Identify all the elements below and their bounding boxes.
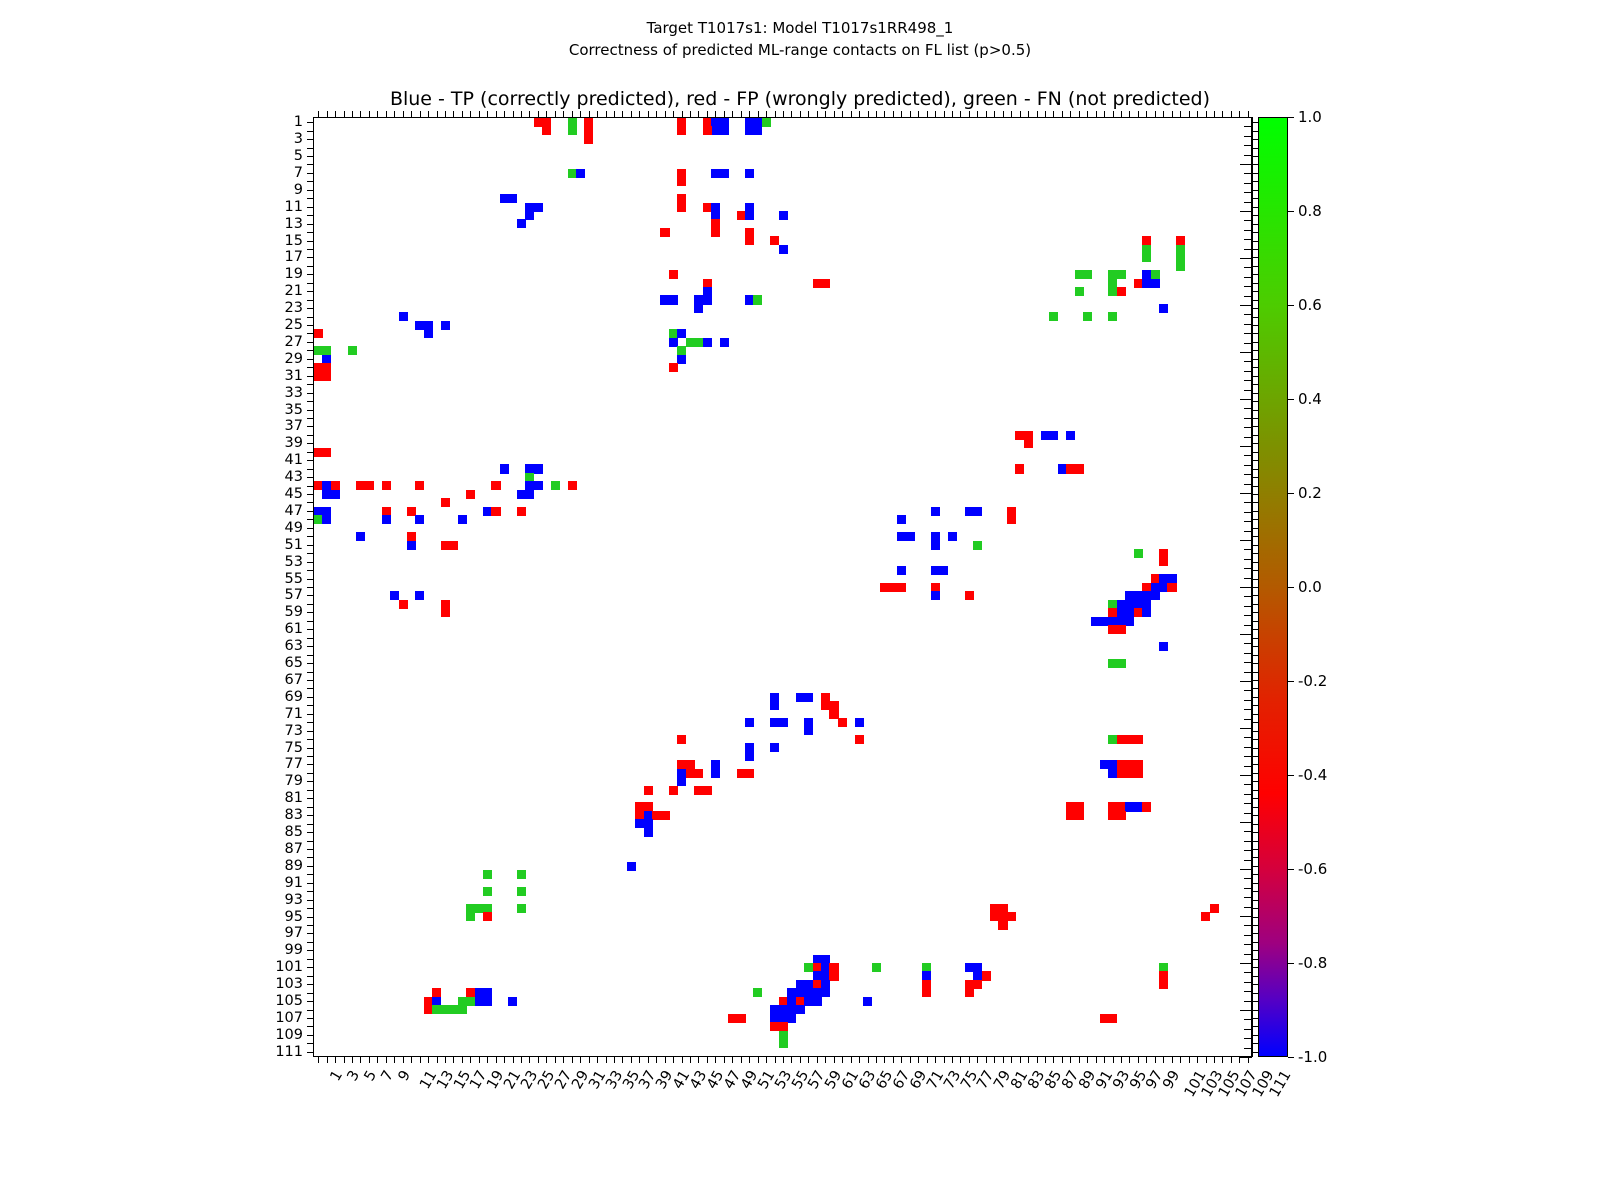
contact-cell <box>627 862 636 871</box>
x-axis-tick-top <box>1121 111 1122 118</box>
contact-cell <box>965 591 974 600</box>
x-axis-tick-top <box>758 111 759 118</box>
y-axis-tick <box>307 1018 314 1019</box>
contact-cell <box>1176 262 1185 271</box>
contact-cell <box>1075 464 1084 473</box>
y-axis-tick <box>307 367 314 368</box>
x-axis-tick <box>944 1056 945 1063</box>
x-axis-tick-top <box>851 111 852 118</box>
y-axis-tick <box>307 181 314 182</box>
colorbar-minor-tick <box>1244 803 1252 804</box>
contact-cell <box>314 329 323 338</box>
x-axis-tick-top <box>952 111 953 118</box>
x-axis-tick <box>420 1056 421 1063</box>
colorbar-minor-tick <box>1240 634 1252 635</box>
contact-cell <box>711 769 720 778</box>
contact-cell <box>779 245 788 254</box>
contact-cell <box>770 701 779 710</box>
y-axis-tick <box>307 629 314 630</box>
y-axis-label: 9 <box>294 182 303 198</box>
contact-cell <box>1142 802 1151 811</box>
contact-cell <box>483 870 492 879</box>
x-axis-tick-top <box>1113 111 1114 118</box>
y-axis-tick <box>307 283 314 284</box>
colorbar-minor-tick <box>1240 399 1252 400</box>
x-axis-tick <box>825 1056 826 1063</box>
x-axis-label: 9 <box>395 1068 413 1084</box>
contact-cell <box>669 295 678 304</box>
contact-cell <box>745 169 754 178</box>
y-axis-label: 27 <box>285 334 303 350</box>
y-axis-label: 29 <box>285 351 303 367</box>
colorbar-minor-tick <box>1244 897 1252 898</box>
contact-cell <box>517 219 526 228</box>
x-axis-tick <box>631 1056 632 1063</box>
y-axis-label: 5 <box>294 148 303 164</box>
y-axis-tick <box>307 224 314 225</box>
y-axis-tick <box>307 900 314 901</box>
x-axis-tick <box>842 1056 843 1063</box>
contact-cell <box>703 338 712 347</box>
colorbar-minor-tick <box>1240 211 1252 212</box>
x-axis-tick-top <box>453 111 454 118</box>
contact-cell <box>1075 811 1084 820</box>
x-axis-tick-top <box>817 111 818 118</box>
x-axis-tick <box>817 1056 818 1063</box>
x-axis-tick-top <box>369 111 370 118</box>
x-axis-tick <box>462 1056 463 1063</box>
colorbar-minor-tick <box>1244 1048 1252 1049</box>
y-axis-tick <box>307 528 314 529</box>
y-axis-label: 99 <box>285 942 303 958</box>
y-axis-tick <box>307 190 314 191</box>
contact-cell <box>1151 279 1160 288</box>
contact-cell <box>525 211 534 220</box>
colorbar-minor-tick <box>1244 202 1252 203</box>
contact-cell <box>737 1014 746 1023</box>
contact-cell <box>677 203 686 212</box>
contact-cell <box>1049 312 1058 321</box>
contact-cell <box>677 177 686 186</box>
y-axis-tick <box>307 908 314 909</box>
colorbar-tick <box>1288 211 1294 212</box>
colorbar-minor-tick <box>1244 324 1252 325</box>
contact-cell <box>1049 431 1058 440</box>
colorbar-minor-tick <box>1244 249 1252 250</box>
x-axis-tick <box>1138 1056 1139 1063</box>
x-axis-tick-top <box>352 111 353 118</box>
x-axis-tick <box>437 1056 438 1063</box>
x-axis-tick-top <box>927 111 928 118</box>
contact-cell <box>458 1005 467 1014</box>
x-axis-tick <box>1096 1056 1097 1063</box>
contact-cell <box>855 718 864 727</box>
x-axis-tick-top <box>360 111 361 118</box>
figure-title-line1: Target T1017s1: Model T1017s1RR498_1 <box>0 18 1600 40</box>
x-axis-tick-top <box>327 111 328 118</box>
x-axis-tick <box>952 1056 953 1063</box>
x-axis-tick <box>783 1056 784 1063</box>
y-axis-label: 33 <box>285 385 303 401</box>
colorbar-tick <box>1288 493 1294 494</box>
contact-cell <box>356 532 365 541</box>
x-axis-tick-top <box>1155 111 1156 118</box>
x-axis-tick <box>1070 1056 1071 1063</box>
x-axis-tick-top <box>1028 111 1029 118</box>
x-axis-tick <box>859 1056 860 1063</box>
colorbar-minor-tick <box>1244 267 1252 268</box>
x-axis-tick-top <box>521 111 522 118</box>
colorbar-tick-label: 0.2 <box>1298 484 1322 502</box>
x-axis-tick <box>749 1056 750 1063</box>
x-axis-tick <box>901 1056 902 1063</box>
y-axis-label: 101 <box>275 959 303 975</box>
contact-cell <box>1117 625 1126 634</box>
x-axis-tick <box>470 1056 471 1063</box>
x-axis-tick-top <box>487 111 488 118</box>
y-axis-tick <box>307 401 314 402</box>
x-axis-tick-top <box>394 111 395 118</box>
x-axis-tick-top <box>589 111 590 118</box>
x-axis-tick <box>1222 1056 1223 1063</box>
colorbar-minor-tick <box>1244 371 1252 372</box>
colorbar-minor-tick <box>1244 643 1252 644</box>
contact-map-figure: Target T1017s1: Model T1017s1RR498_1 Cor… <box>0 0 1600 1200</box>
x-axis-tick <box>1104 1056 1105 1063</box>
x-axis-tick-top <box>437 111 438 118</box>
x-axis-tick <box>910 1056 911 1063</box>
colorbar-minor-tick <box>1244 502 1252 503</box>
contact-cell <box>1167 583 1176 592</box>
x-axis-tick-top <box>597 111 598 118</box>
contact-cell <box>897 566 906 575</box>
colorbar-minor-tick <box>1244 549 1252 550</box>
colorbar-minor-tick <box>1244 521 1252 522</box>
x-axis-tick-top <box>732 111 733 118</box>
x-axis-tick <box>496 1056 497 1063</box>
contact-cell <box>779 211 788 220</box>
colorbar-minor-tick <box>1240 1010 1252 1011</box>
contact-cell <box>973 980 982 989</box>
contact-cell <box>1024 439 1033 448</box>
contact-cell <box>821 988 830 997</box>
x-axis-label: 3 <box>345 1068 363 1084</box>
x-axis-tick <box>580 1056 581 1063</box>
contact-cell <box>939 566 948 575</box>
contact-cell <box>1210 904 1219 913</box>
contact-cell <box>855 735 864 744</box>
contact-cell <box>711 228 720 237</box>
contact-cell <box>441 321 450 330</box>
y-axis-label: 47 <box>285 503 303 519</box>
y-axis-tick <box>307 308 314 309</box>
contact-cell <box>483 997 492 1006</box>
colorbar-minor-tick <box>1244 925 1252 926</box>
contact-cell <box>322 515 331 524</box>
x-axis-tick <box>1037 1056 1038 1063</box>
contact-cell <box>720 126 729 135</box>
x-axis-tick-top <box>715 111 716 118</box>
colorbar-minor-tick <box>1244 700 1252 701</box>
y-axis-tick <box>307 680 314 681</box>
y-axis-label: 55 <box>285 571 303 587</box>
y-axis-label: 81 <box>285 790 303 806</box>
contact-cell <box>542 126 551 135</box>
y-axis-tick <box>307 976 314 977</box>
x-axis-tick <box>986 1056 987 1063</box>
colorbar-tick <box>1288 775 1294 776</box>
y-axis-tick <box>307 207 314 208</box>
contact-cell <box>922 988 931 997</box>
colorbar-minor-tick <box>1240 587 1252 588</box>
y-axis-label: 41 <box>285 452 303 468</box>
x-axis-tick-top <box>529 111 530 118</box>
y-axis-tick <box>307 1026 314 1027</box>
contact-cell <box>458 515 467 524</box>
x-axis-tick-top <box>580 111 581 118</box>
x-axis-tick-top <box>639 111 640 118</box>
colorbar-minor-tick <box>1244 230 1252 231</box>
contact-cell <box>1201 912 1210 921</box>
y-axis-tick <box>307 562 314 563</box>
y-axis-label: 87 <box>285 841 303 857</box>
y-axis-tick <box>307 350 314 351</box>
y-axis-tick <box>307 570 314 571</box>
y-axis-label: 57 <box>285 587 303 603</box>
colorbar-minor-tick <box>1244 296 1252 297</box>
x-axis-tick <box>741 1056 742 1063</box>
colorbar-tick <box>1288 963 1294 964</box>
y-axis-tick <box>307 359 314 360</box>
contact-cell <box>500 464 509 473</box>
y-axis-tick <box>307 612 314 613</box>
x-axis-tick <box>1172 1056 1173 1063</box>
colorbar-minor-tick <box>1244 841 1252 842</box>
colorbar-minor-tick <box>1244 173 1252 174</box>
colorbar-minor-tick <box>1244 1019 1252 1020</box>
colorbar-minor-tick <box>1240 822 1252 823</box>
x-axis-tick-top <box>944 111 945 118</box>
y-axis-tick <box>307 604 314 605</box>
colorbar-tick <box>1288 305 1294 306</box>
y-axis-tick <box>307 790 314 791</box>
colorbar-minor-tick <box>1240 164 1252 165</box>
y-axis-tick <box>307 342 314 343</box>
contact-cell <box>745 752 754 761</box>
x-axis-tick <box>428 1056 429 1063</box>
x-axis-tick-top <box>344 111 345 118</box>
x-axis-tick-top <box>1062 111 1063 118</box>
x-axis-tick <box>377 1056 378 1063</box>
colorbar-minor-tick <box>1244 1029 1252 1030</box>
y-axis-tick <box>307 266 314 267</box>
y-axis-label: 79 <box>285 773 303 789</box>
y-axis-tick <box>307 841 314 842</box>
colorbar-tick-label: 1.0 <box>1298 108 1322 126</box>
x-axis-tick <box>1045 1056 1046 1063</box>
y-axis-label: 17 <box>285 249 303 265</box>
y-axis-tick <box>307 333 314 334</box>
x-axis-tick <box>1206 1056 1207 1063</box>
x-axis-tick <box>360 1056 361 1063</box>
x-axis-tick <box>977 1056 978 1063</box>
x-axis-tick <box>487 1056 488 1063</box>
contact-cell <box>813 997 822 1006</box>
x-axis-tick <box>1129 1056 1130 1063</box>
y-axis-tick <box>307 595 314 596</box>
colorbar-minor-tick <box>1240 352 1252 353</box>
y-axis-tick <box>307 579 314 580</box>
contact-cell <box>973 507 982 516</box>
contact-cell <box>982 971 991 980</box>
contact-cell <box>677 355 686 364</box>
y-axis-tick <box>307 655 314 656</box>
contact-cell <box>1159 304 1168 313</box>
y-axis-tick <box>307 1052 314 1053</box>
y-axis-label: 107 <box>275 1010 303 1026</box>
x-axis-tick <box>851 1056 852 1063</box>
y-axis-tick <box>307 739 314 740</box>
y-axis-label: 59 <box>285 604 303 620</box>
colorbar-minor-tick <box>1244 437 1252 438</box>
contact-cell <box>322 448 331 457</box>
y-axis-tick <box>307 249 314 250</box>
contact-cell <box>1117 287 1126 296</box>
colorbar-minor-tick <box>1244 907 1252 908</box>
x-axis-tick-top <box>1214 111 1215 118</box>
colorbar-minor-tick <box>1244 794 1252 795</box>
colorbar-minor-tick <box>1244 192 1252 193</box>
contact-cell <box>491 481 500 490</box>
x-axis-tick <box>791 1056 792 1063</box>
x-axis-tick-top <box>411 111 412 118</box>
contact-cell <box>1159 642 1168 651</box>
contact-cell <box>424 329 433 338</box>
y-axis-label: 3 <box>294 131 303 147</box>
y-axis-label: 15 <box>285 233 303 249</box>
y-axis-tick <box>307 122 314 123</box>
x-axis-tick <box>589 1056 590 1063</box>
colorbar-minor-tick <box>1244 380 1252 381</box>
y-axis-label: 67 <box>285 672 303 688</box>
y-axis-tick <box>307 198 314 199</box>
x-axis-tick <box>766 1056 767 1063</box>
contact-cell <box>745 211 754 220</box>
colorbar-tick-label: -0.8 <box>1298 954 1327 972</box>
contact-cell <box>745 718 754 727</box>
contact-cell <box>584 135 593 144</box>
contact-cell <box>1125 617 1134 626</box>
y-axis-tick <box>307 317 314 318</box>
colorbar-minor-tick <box>1244 709 1252 710</box>
y-axis-tick <box>307 215 314 216</box>
colorbar-minor-tick <box>1244 672 1252 673</box>
colorbar-minor-tick <box>1244 408 1252 409</box>
y-axis-tick <box>307 486 314 487</box>
x-axis-tick <box>834 1056 835 1063</box>
x-axis-tick <box>1011 1056 1012 1063</box>
contact-cell <box>322 372 331 381</box>
x-axis-tick <box>318 1056 319 1063</box>
contact-cell <box>525 490 534 499</box>
x-axis-tick-top <box>775 111 776 118</box>
x-axis-tick-top <box>1180 111 1181 118</box>
x-axis-tick <box>656 1056 657 1063</box>
y-axis-tick <box>307 156 314 157</box>
x-axis-tick-top <box>884 111 885 118</box>
colorbar-minor-tick <box>1244 690 1252 691</box>
colorbar-minor-tick <box>1244 136 1252 137</box>
colorbar-minor-tick <box>1240 869 1252 870</box>
colorbar-minor-tick <box>1244 418 1252 419</box>
colorbar-minor-tick <box>1244 390 1252 391</box>
contact-cell <box>568 126 577 135</box>
y-axis-label: 97 <box>285 925 303 941</box>
contact-cell <box>551 481 560 490</box>
colorbar-minor-tick <box>1244 145 1252 146</box>
y-axis-tick <box>307 714 314 715</box>
y-axis-label: 7 <box>294 165 303 181</box>
y-axis-tick <box>307 672 314 673</box>
colorbar-minor-tick <box>1240 117 1252 118</box>
contact-cell <box>677 735 686 744</box>
contact-cell <box>931 541 940 550</box>
contact-cell <box>669 270 678 279</box>
y-axis-tick <box>307 705 314 706</box>
contact-cell <box>669 786 678 795</box>
contact-cell <box>534 203 543 212</box>
colorbar-minor-tick <box>1240 1057 1252 1058</box>
colorbar-minor-tick <box>1244 314 1252 315</box>
contact-cell <box>1142 253 1151 262</box>
x-axis-tick-top <box>1104 111 1105 118</box>
contact-cell <box>534 464 543 473</box>
x-axis-tick <box>1121 1056 1122 1063</box>
y-axis-label: 23 <box>285 300 303 316</box>
contact-cell <box>1134 549 1143 558</box>
colorbar-minor-tick <box>1244 155 1252 156</box>
colorbar-minor-tick <box>1244 625 1252 626</box>
x-axis-tick <box>690 1056 691 1063</box>
colorbar-minor-tick <box>1244 1001 1252 1002</box>
y-axis-tick <box>307 477 314 478</box>
x-axis-tick-top <box>622 111 623 118</box>
x-axis-tick-top <box>986 111 987 118</box>
x-axis-tick-top <box>403 111 404 118</box>
y-axis-tick <box>307 148 314 149</box>
x-axis-tick <box>682 1056 683 1063</box>
x-axis-tick-top <box>910 111 911 118</box>
colorbar-minor-tick-rail <box>1238 117 1252 1057</box>
y-axis-tick <box>307 807 314 808</box>
contact-cell <box>711 760 720 769</box>
colorbar-minor-tick <box>1244 183 1252 184</box>
y-axis-tick <box>307 1010 314 1011</box>
contact-cell <box>931 507 940 516</box>
y-axis-tick <box>307 638 314 639</box>
y-axis-label: 45 <box>285 486 303 502</box>
x-axis-tick-top <box>918 111 919 118</box>
x-axis-tick-top <box>673 111 674 118</box>
contact-cell <box>948 532 957 541</box>
x-axis-tick-top <box>868 111 869 118</box>
x-axis-tick <box>327 1056 328 1063</box>
contact-map-plot-area: 1133557799111113131515171719192121232325… <box>313 117 1253 1057</box>
y-axis-label: 63 <box>285 638 303 654</box>
x-axis-tick <box>1214 1056 1215 1063</box>
contact-cell <box>441 498 450 507</box>
y-axis-tick <box>307 452 314 453</box>
